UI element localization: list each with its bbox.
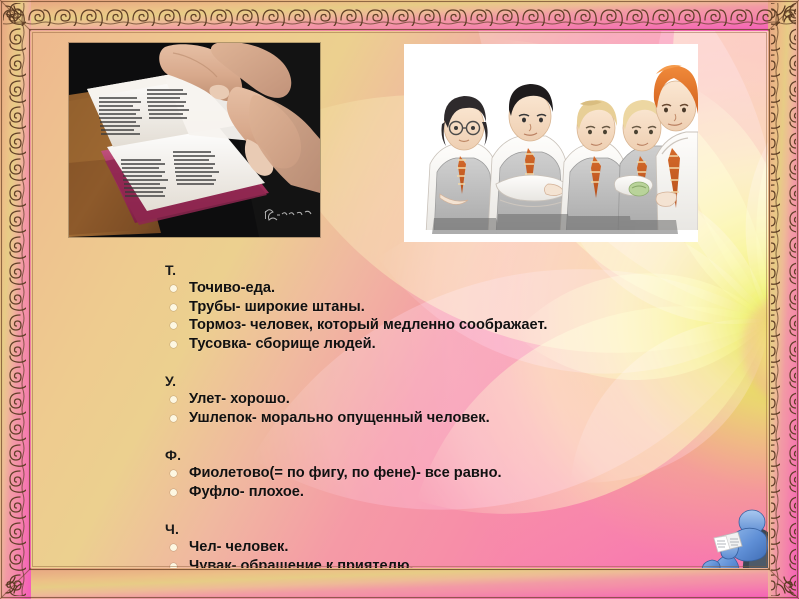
entry-text: Тормоз- человек, который медленно сообра… (189, 317, 547, 333)
glossary-list: Точиво-еда. Трубы- широкие штаны. Тормоз… (163, 279, 723, 353)
bullet-icon (170, 341, 177, 348)
list-item: Тормоз- человек, который медленно сообра… (163, 316, 723, 335)
slide-root: Т. Точиво-еда. Трубы- широкие штаны. Тор… (0, 0, 799, 599)
group-letter: Ч. (165, 521, 723, 537)
list-item: Ушлепок- морально опущенный человек. (163, 409, 723, 428)
list-item: Фуфло- плохое. (163, 483, 723, 502)
glossary-group-ch: Ч. Чел- человек. Чувак- обращение к прия… (163, 521, 723, 575)
list-item: Трубы- широкие штаны. (163, 298, 723, 317)
schoolboys-illustration (404, 44, 698, 242)
bullet-icon (170, 322, 177, 329)
bullet-icon (170, 415, 177, 422)
glossary-group-t: Т. Точиво-еда. Трубы- широкие штаны. Тор… (163, 262, 723, 353)
group-letter: Т. (165, 262, 723, 278)
bullet-icon (170, 544, 177, 551)
glossary-list: Фиолетово(= по фигу, по фене)- все равно… (163, 464, 723, 501)
reading-person-clipart (700, 508, 792, 592)
bullet-icon (170, 470, 177, 477)
glossary-list: Чел- человек. Чувак- обращение к приятел… (163, 538, 723, 575)
entry-text: Чувак- обращение к приятелю. (189, 558, 413, 574)
entry-text: Фуфло- плохое. (189, 484, 304, 500)
entry-text: Точиво-еда. (189, 280, 275, 296)
bullet-icon (170, 563, 177, 570)
entry-text: Чел- человек. (189, 539, 288, 555)
list-item: Фиолетово(= по фигу, по фене)- все равно… (163, 464, 723, 483)
bullet-icon (170, 304, 177, 311)
group-spacer (163, 507, 723, 521)
group-letter: Ф. (165, 447, 723, 463)
entry-text: Ушлепок- морально опущенный человек. (189, 410, 490, 426)
list-item: Чел- человек. (163, 538, 723, 557)
bullet-icon (170, 489, 177, 496)
glossary-content: Т. Точиво-еда. Трубы- широкие штаны. Тор… (163, 262, 723, 581)
list-item: Чувак- обращение к приятелю. (163, 557, 723, 576)
bullet-icon (170, 285, 177, 292)
entry-text: Трубы- широкие штаны. (189, 299, 365, 315)
list-item: Точиво-еда. (163, 279, 723, 298)
list-item: Тусовка- сборище людей. (163, 335, 723, 354)
group-spacer (163, 359, 723, 373)
glossary-list: Улет- хорошо. Ушлепок- морально опущенны… (163, 390, 723, 427)
bullet-icon (170, 396, 177, 403)
group-spacer (163, 433, 723, 447)
dictionary-photo (69, 43, 320, 237)
glossary-group-f: Ф. Фиолетово(= по фигу, по фене)- все ра… (163, 447, 723, 501)
entry-text: Тусовка- сборище людей. (189, 336, 376, 352)
entry-text: Улет- хорошо. (189, 391, 290, 407)
glossary-group-u: У. Улет- хорошо. Ушлепок- морально опуще… (163, 373, 723, 427)
entry-text: Фиолетово(= по фигу, по фене)- все равно… (189, 465, 502, 481)
list-item: Улет- хорошо. (163, 390, 723, 409)
group-letter: У. (165, 373, 723, 389)
